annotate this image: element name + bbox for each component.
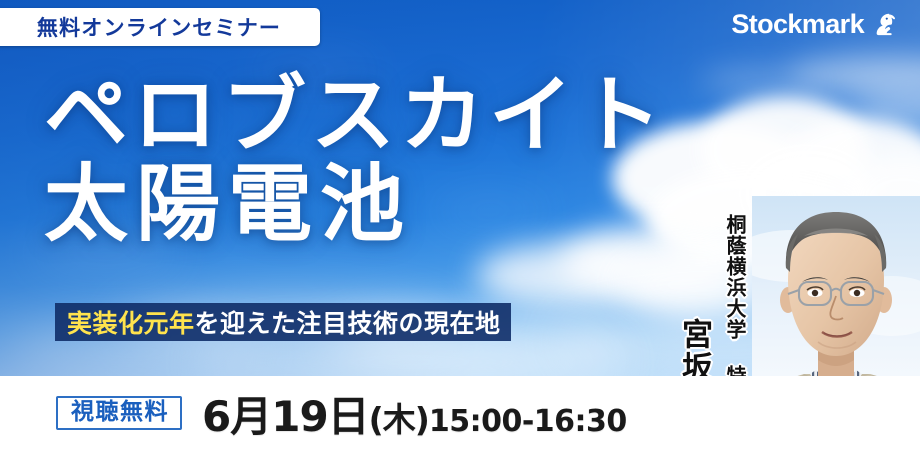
free-viewing-badge: 視聴無料 (56, 396, 182, 430)
squirrel-icon (871, 11, 898, 38)
stockmark-logo[interactable]: Stockmark (731, 9, 898, 40)
webinar-banner: 無料オンラインセミナー Stockmark ペロブスカイト 太陽電池 実装化元年… (0, 0, 920, 450)
event-weekday: (木) (369, 393, 429, 441)
title-line-2: 太陽電池 (44, 159, 744, 248)
seminar-subtitle-band: 実装化元年 を迎えた注目技術の現在地 (55, 303, 511, 341)
subtitle-rest: を迎えた注目技術の現在地 (195, 304, 501, 340)
subtitle-highlight: 実装化元年 (67, 304, 195, 340)
title-line-1: ペロブスカイト (44, 70, 744, 159)
event-datetime: 6月19日 (木) 15:00-16:30 (202, 383, 627, 444)
logo-wordmark: Stockmark (731, 9, 864, 40)
event-date: 6月19日 (202, 383, 369, 444)
seminar-type-badge: 無料オンラインセミナー (0, 8, 320, 46)
footer-bar: 視聴無料 6月19日 (木) 15:00-16:30 (0, 376, 920, 450)
event-time: 15:00-16:30 (429, 404, 627, 439)
seminar-title: ペロブスカイト 太陽電池 (44, 70, 744, 248)
seminar-type-label: 無料オンラインセミナー (37, 12, 281, 42)
